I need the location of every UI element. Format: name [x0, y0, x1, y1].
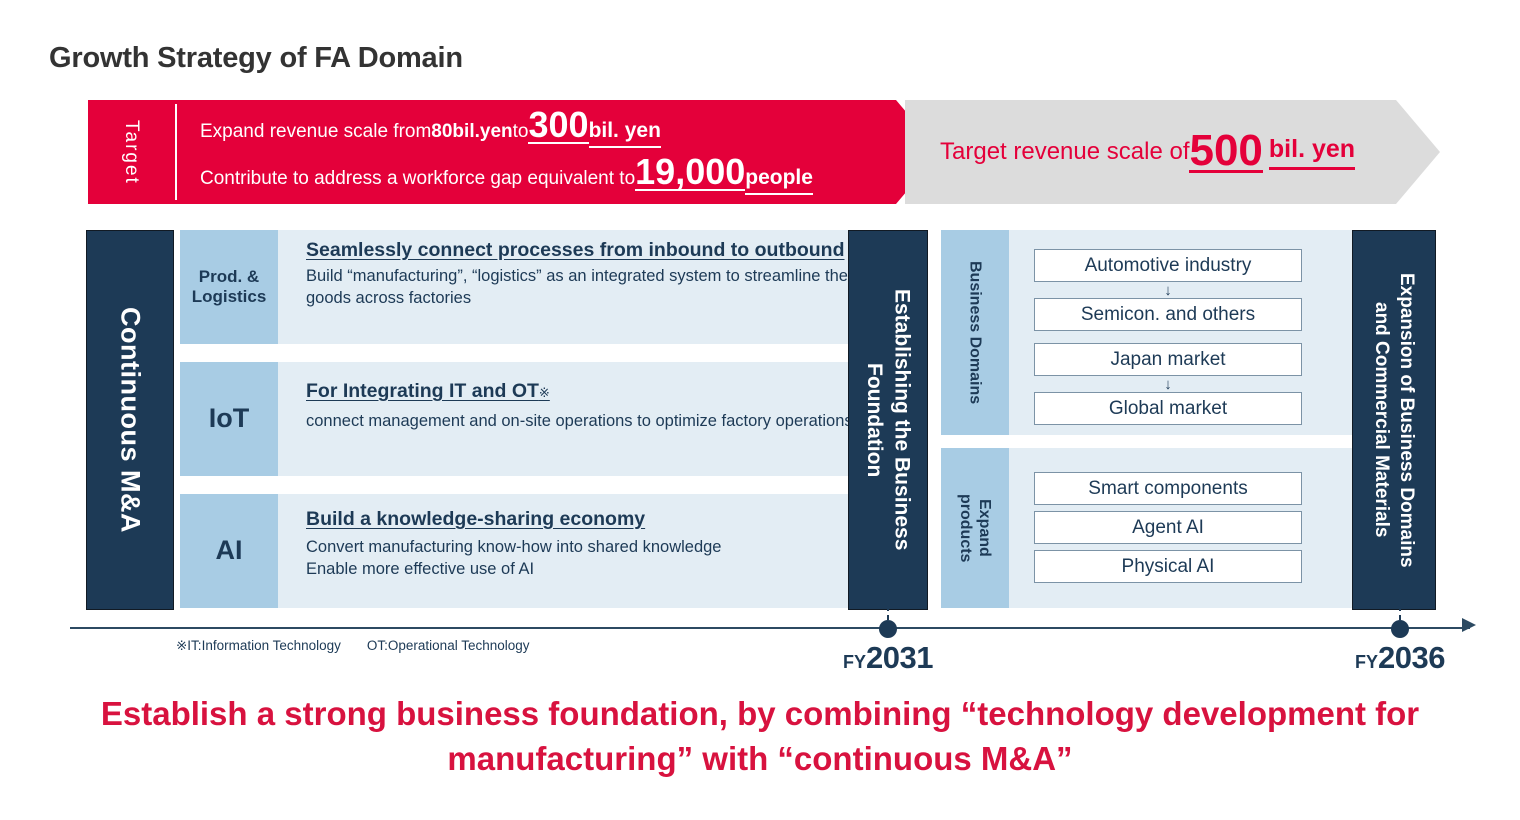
group-label-text: Expand products — [956, 494, 994, 562]
footnote-it: ※IT:Information Technology — [176, 638, 341, 653]
strategy-row-sub: Convert manufacturing know-how into shar… — [306, 536, 916, 580]
timeline-arrow-icon — [1462, 618, 1476, 632]
product-box[interactable]: Smart components — [1034, 472, 1302, 505]
product-box[interactable]: Agent AI — [1034, 511, 1302, 544]
arrow-down-icon: ↓ — [1034, 376, 1302, 392]
target-line-2: Contribute to address a workforce gap eq… — [196, 156, 896, 195]
strategy-row-heading-text: For Integrating IT and OT — [306, 380, 539, 402]
strategy-row-sub: Build “manufacturing”, “logistics” as an… — [306, 265, 916, 309]
target-line2-value: 19,000 — [635, 156, 745, 191]
future-target-banner: Target revenue scale of 500 bil. yen — [905, 100, 1440, 204]
target-banner-divider — [175, 104, 177, 200]
target-banner-lines: Expand revenue scale from 80bil.yen to 3… — [196, 100, 896, 204]
target-line1-value: 300 — [528, 109, 588, 144]
domain-box[interactable]: Japan market — [1034, 343, 1302, 376]
future-target-content: Target revenue scale of 500 bil. yen — [940, 100, 1440, 204]
arrow-down-icon: ↓ — [1034, 282, 1302, 298]
future-target-prefix: Target revenue scale of — [940, 138, 1189, 166]
continuous-ma-label: Continuous M&A — [115, 307, 146, 533]
strategy-row-tag: AI — [180, 494, 278, 608]
continuous-ma-column: Continuous M&A — [86, 230, 174, 610]
target-label-text: Target — [120, 120, 142, 185]
strategy-row-sub: connect management and on-site operation… — [306, 410, 916, 432]
tick-dot-icon — [879, 620, 897, 638]
group-label-text: Business Domains — [965, 261, 984, 404]
establishing-foundation-column: Establishing the Business Foundation — [848, 230, 928, 610]
bottom-headline: Establish a strong business foundation, … — [60, 692, 1460, 782]
strategy-row-body: Seamlessly connect processes from inboun… — [278, 230, 916, 344]
tick-dot-icon — [1391, 620, 1409, 638]
strategy-row-body: Build a knowledge-sharing economy Conver… — [278, 494, 916, 608]
future-target-unit: bil. yen — [1269, 135, 1355, 170]
tick-fy-prefix: FY — [843, 652, 866, 672]
strategy-row-heading: Build a knowledge-sharing economy — [306, 508, 916, 532]
domain-box[interactable]: Automotive industry — [1034, 249, 1302, 282]
tick-fy-prefix: FY — [1355, 652, 1378, 672]
target-banner-label: Target — [88, 100, 174, 204]
tick-year-number: 2036 — [1378, 640, 1445, 675]
target-line1-prefix: Expand revenue scale from — [200, 121, 431, 143]
page-title: Growth Strategy of FA Domain — [49, 42, 463, 75]
target-line2-unit: people — [745, 166, 813, 195]
footnotes: ※IT:Information TechnologyOT:Operational… — [176, 638, 530, 654]
strategy-row-heading: For Integrating IT and OT※ — [306, 380, 916, 404]
establishing-foundation-label: Establishing the Business Foundation — [861, 289, 916, 550]
tick-year: FY2036 — [1338, 640, 1462, 676]
expansion-column: Expansion of Business Domains and Commer… — [1352, 230, 1436, 610]
group-label: Expand products — [941, 448, 1009, 608]
target-line2-prefix: Contribute to address a workforce gap eq… — [200, 168, 635, 190]
group-label: Business Domains — [941, 230, 1009, 435]
tick-year-number: 2031 — [866, 640, 933, 675]
strategy-row-tag: Prod. & Logistics — [180, 230, 278, 344]
group-panel: Automotive industry ↓ Semicon. and other… — [1009, 230, 1411, 435]
strategy-row-heading-text: Build a knowledge-sharing economy — [306, 508, 645, 530]
footnote-ot: OT:Operational Technology — [367, 638, 530, 653]
future-target-value: 500 — [1189, 131, 1262, 174]
strategy-row-tag: IoT — [180, 362, 278, 476]
expansion-column-label: Expansion of Business Domains and Commer… — [1369, 273, 1419, 568]
target-line1-from: 80bil.yen — [431, 121, 512, 143]
strategy-row-mark: ※ — [539, 385, 550, 400]
strategy-row-body: For Integrating IT and OT※ connect manag… — [278, 362, 916, 476]
group-panel: Smart components Agent AI Physical AI — [1009, 448, 1411, 608]
domain-box[interactable]: Global market — [1034, 392, 1302, 425]
strategy-row-heading-text: Seamlessly connect processes from inboun… — [306, 239, 845, 261]
domain-box[interactable]: Semicon. and others — [1034, 298, 1302, 331]
target-line1-mid: to — [513, 121, 529, 143]
strategy-row-heading: Seamlessly connect processes from inboun… — [306, 239, 916, 263]
tick-year: FY2031 — [826, 640, 950, 676]
product-box[interactable]: Physical AI — [1034, 550, 1302, 583]
slide-canvas: Growth Strategy of FA Domain Target Expa… — [0, 0, 1520, 820]
timeline-axis — [70, 627, 1470, 629]
target-line-1: Expand revenue scale from 80bil.yen to 3… — [196, 109, 896, 148]
target-banner: Target Expand revenue scale from 80bil.y… — [88, 100, 940, 204]
target-line1-unit: bil. yen — [589, 119, 661, 148]
